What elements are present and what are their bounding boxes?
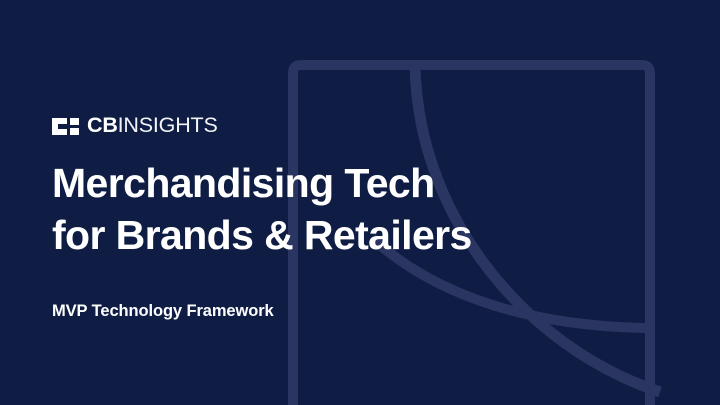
cb-insights-wordmark: CBINSIGHTS <box>87 115 218 137</box>
cb-insights-logo-mark <box>52 118 79 135</box>
slide-subtitle: MVP Technology Framework <box>52 300 274 322</box>
cb-insights-logo: CBINSIGHTS <box>52 114 218 138</box>
slide-title-line-2: for Brands & Retailers <box>52 209 472 261</box>
slide-title: Merchandising Tech for Brands & Retailer… <box>52 157 472 261</box>
slide-title-line-1: Merchandising Tech <box>52 157 472 209</box>
slide-content: CBINSIGHTS Merchandising Tech for Brands… <box>52 0 612 405</box>
title-slide: CBINSIGHTS Merchandising Tech for Brands… <box>0 0 720 405</box>
wordmark-light-text: INSIGHTS <box>118 113 218 137</box>
wordmark-bold-text: CB <box>87 113 118 137</box>
